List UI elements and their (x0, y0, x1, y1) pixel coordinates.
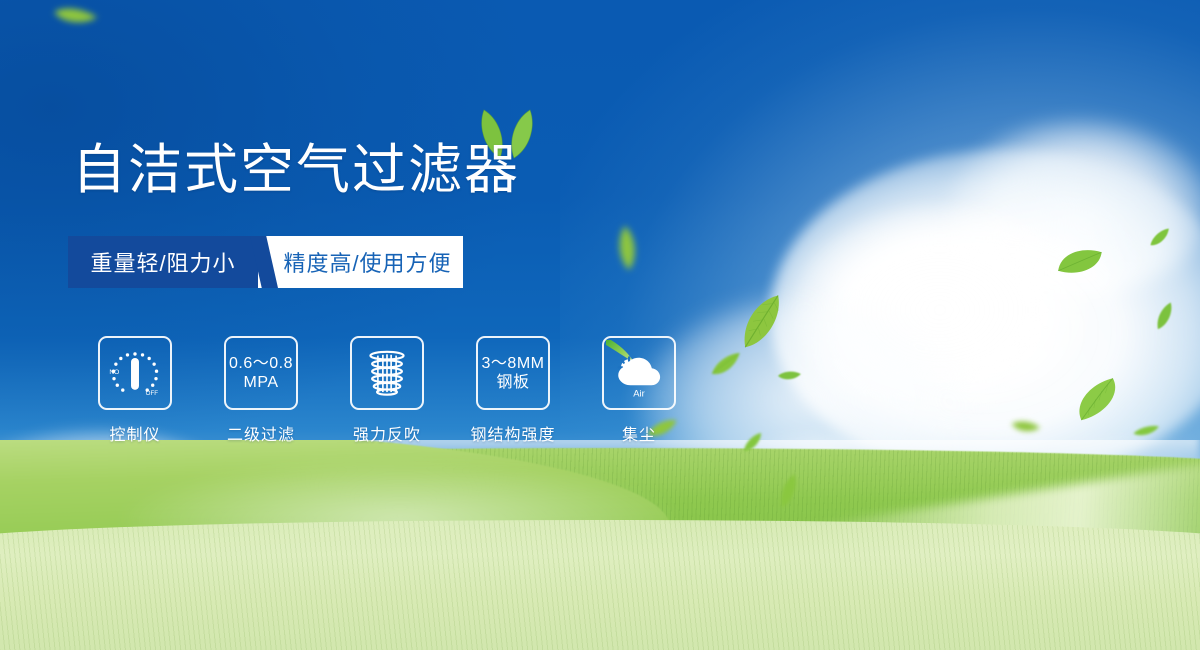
feature-label: 集尘 (622, 421, 656, 445)
subtitle-right-text: 精度高/使用方便 (283, 246, 451, 278)
feature-icon-box: NO OFF (98, 336, 172, 410)
gauge-switch-icon: NO OFF (104, 342, 166, 404)
feature-item-controller[interactable]: NO OFF 控制仪 (72, 336, 198, 445)
cloud-air-label: Air (633, 388, 645, 399)
feature-item-two-stage-filter[interactable]: 0.6〜0.8 MPA 二级过滤 (198, 336, 324, 445)
subtitle-left-panel: 重量轻/阻力小 (68, 236, 258, 288)
feature-icon-box: 3〜8MM 钢板 (476, 336, 550, 410)
subtitle-left-text: 重量轻/阻力小 (90, 246, 235, 278)
feature-label: 二级过滤 (227, 421, 295, 445)
feature-label: 强力反吹 (353, 421, 421, 445)
pressure-range: 0.6〜0.8 (229, 354, 293, 373)
gauge-label-on: NO (109, 369, 119, 376)
gauge-label-off: OFF (146, 390, 159, 397)
filter-cartridge-icon (358, 344, 416, 402)
feature-item-dust-collection[interactable]: Air 集尘 (576, 336, 702, 445)
feature-icon-box: Air (602, 336, 676, 410)
feature-item-blowback[interactable]: 强力反吹 (324, 336, 450, 445)
feature-icon-box (350, 336, 424, 410)
grass-field (0, 440, 1200, 650)
subtitle-bar: 重量轻/阻力小 精度高/使用方便 (68, 236, 463, 288)
steel-material: 钢板 (482, 373, 545, 392)
feature-icon-box: 0.6〜0.8 MPA (224, 336, 298, 410)
steel-plate-text-icon: 3〜8MM 钢板 (482, 354, 545, 392)
feature-item-steel-strength[interactable]: 3〜8MM 钢板 钢结构强度 (450, 336, 576, 445)
subtitle-right-panel: 精度高/使用方便 (258, 236, 463, 288)
feature-list: NO OFF 控制仪 0.6〜0.8 MPA 二级过滤 (72, 336, 702, 445)
pressure-unit: MPA (229, 373, 293, 392)
steel-thickness: 3〜8MM (482, 354, 545, 373)
grass-near-texture (0, 520, 1200, 650)
feature-label: 控制仪 (109, 421, 160, 445)
pressure-text-icon: 0.6〜0.8 MPA (229, 354, 293, 392)
feature-label: 钢结构强度 (470, 421, 555, 445)
product-banner: 自洁式空气过滤器 重量轻/阻力小 精度高/使用方便 (0, 0, 1200, 650)
cloud-air-icon: Air (606, 340, 672, 406)
page-title: 自洁式空气过滤器 (72, 143, 520, 197)
